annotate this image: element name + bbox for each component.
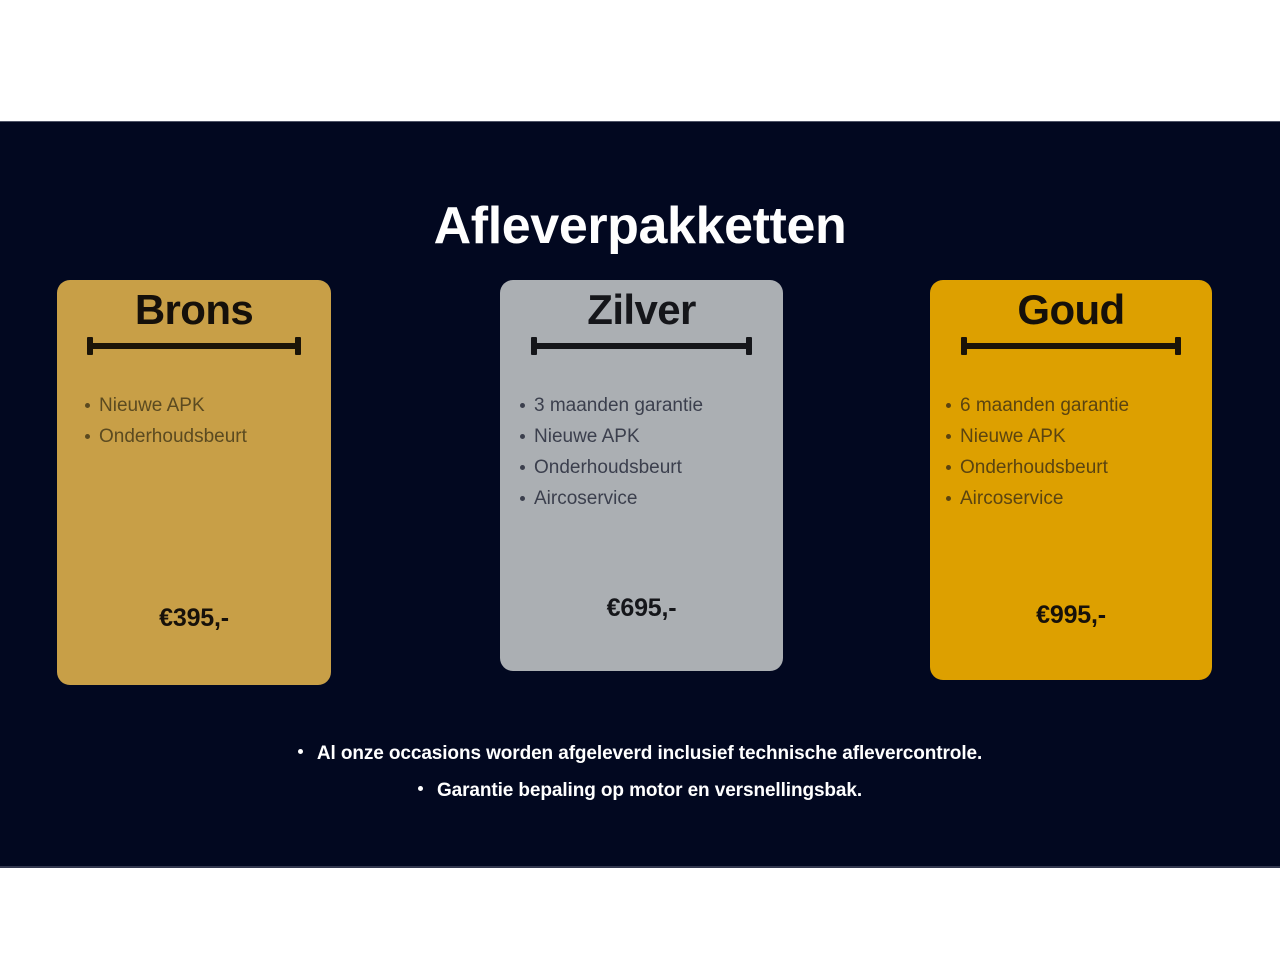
package-price-zilver: €695,- [500,594,783,623]
footer-notes: Al onze occasions worden afgeleverd incl… [0,735,1280,809]
rule-cap-right-icon [1175,337,1181,355]
feature-label: Onderhoudsbeurt [960,457,1108,478]
dimension-rule-icon [961,337,1181,355]
feature-list-zilver: 3 maanden garantie Nieuwe APK Onderhouds… [500,390,803,514]
rule-cap-right-icon [746,337,752,355]
list-item: Garantie bepaling op motor en versnellin… [0,772,1280,809]
package-title-brons: Brons [57,288,331,332]
feature-list-goud: 6 maanden garantie Nieuwe APK Onderhouds… [930,390,1228,514]
feature-label: Aircoservice [960,488,1063,509]
bullet-icon [520,496,525,501]
package-card-zilver[interactable]: Zilver 3 maanden garantie Nieuwe APK [500,280,783,671]
package-card-brons[interactable]: Brons Nieuwe APK Onderhoudsbeurt [57,280,331,685]
bullet-icon [85,434,90,439]
note-label: Al onze occasions worden afgeleverd incl… [317,743,982,764]
dimension-rule-icon [531,337,752,355]
list-item: Onderhoudsbeurt [520,452,803,483]
feature-label: Aircoservice [534,488,637,509]
bullet-icon [418,786,423,791]
rule-bar-icon [961,343,1181,349]
feature-label: Nieuwe APK [960,426,1066,447]
bullet-icon [946,403,951,408]
package-card-goud[interactable]: Goud 6 maanden garantie Nieuwe APK [930,280,1212,680]
bullet-icon [946,434,951,439]
feature-label: Onderhoudsbeurt [534,457,682,478]
feature-label: 3 maanden garantie [534,395,703,416]
feature-label: 6 maanden garantie [960,395,1129,416]
bullet-icon [946,465,951,470]
dimension-rule-icon [87,337,301,355]
package-price-brons: €395,- [57,604,331,633]
package-cards-row: Brons Nieuwe APK Onderhoudsbeurt [0,280,1280,690]
feature-label: Nieuwe APK [99,395,205,416]
feature-list-brons: Nieuwe APK Onderhoudsbeurt [57,390,359,452]
rule-bar-icon [531,343,752,349]
content-band: Afleverpakketten Brons Nieuwe APK [0,121,1280,868]
package-title-zilver: Zilver [500,288,783,332]
list-item: Al onze occasions worden afgeleverd incl… [0,735,1280,772]
bullet-icon [298,749,303,754]
list-item: Nieuwe APK [85,390,359,421]
package-price-goud: €995,- [930,601,1212,630]
list-item: Nieuwe APK [520,421,803,452]
list-item: Aircoservice [946,483,1228,514]
slide-canvas: Afleverpakketten Brons Nieuwe APK [0,0,1280,960]
rule-bar-icon [87,343,301,349]
bullet-icon [520,465,525,470]
rule-cap-right-icon [295,337,301,355]
list-item: Nieuwe APK [946,421,1228,452]
list-item: 3 maanden garantie [520,390,803,421]
list-item: 6 maanden garantie [946,390,1228,421]
bullet-icon [85,403,90,408]
feature-label: Nieuwe APK [534,426,640,447]
bullet-icon [520,434,525,439]
list-item: Aircoservice [520,483,803,514]
note-label: Garantie bepaling op motor en versnellin… [437,780,862,801]
bullet-icon [520,403,525,408]
feature-label: Onderhoudsbeurt [99,426,247,447]
bullet-icon [946,496,951,501]
list-item: Onderhoudsbeurt [85,421,359,452]
package-title-goud: Goud [930,288,1212,332]
page-title: Afleverpakketten [0,200,1280,252]
list-item: Onderhoudsbeurt [946,452,1228,483]
